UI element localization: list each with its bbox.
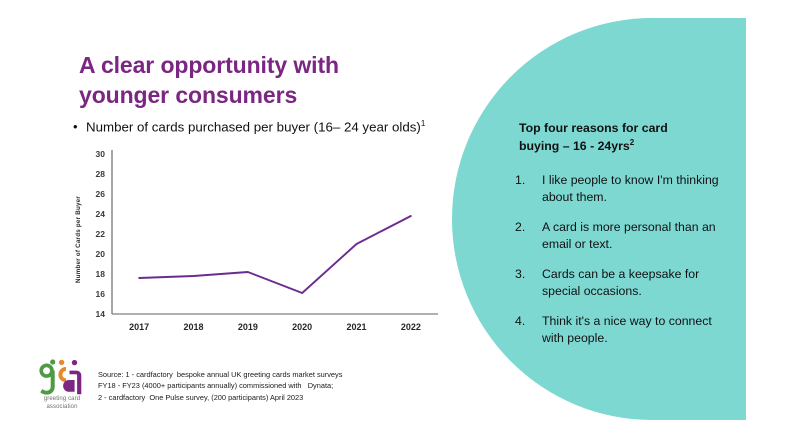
gca-logo-mark [33,358,91,396]
chart-x-tick-label: 2017 [129,322,149,332]
reason-text: Think it's a nice way to connect with pe… [542,313,737,347]
chart-y-tick-label: 16 [96,289,106,299]
source-footnote-line-1: Source: 1 - cardfactory bespoke annual U… [98,369,428,380]
source-footnote: Source: 1 - cardfactory bespoke annual U… [98,369,428,403]
chart-x-tick-label: 2020 [292,322,312,332]
reason-item: 4.Think it's a nice way to connect with … [515,313,737,347]
chart-caption: • Number of cards purchased per buyer (1… [73,119,473,136]
chart-y-tick-label: 28 [96,169,106,179]
source-footnote-line-2: FY18 - FY23 (4000+ participants annually… [98,380,428,391]
reason-text: Cards can be a keepsake for special occa… [542,266,737,300]
chart-y-tick-label: 14 [96,309,106,319]
chart-x-tick-label: 2019 [238,322,258,332]
reason-number: 2. [515,219,542,236]
chart-series-line [139,216,411,293]
gca-wordmark-line-2: association [33,404,91,412]
chart-caption-label: Number of cards purchased per buyer (16–… [86,119,421,134]
chart-y-tick-label: 22 [96,229,106,239]
bullet-icon: • [73,119,86,135]
chart-y-tick-label: 20 [96,249,106,259]
page-title-line-2: younger consumers [79,80,419,110]
gca-logo: greeting card association [33,358,91,416]
chart-caption-footnote-marker: 1 [421,119,425,128]
source-footnote-line-3: 2 - cardfactory One Pulse survey, (200 p… [98,392,428,403]
gca-logo-wordmark: greeting card association [33,396,91,411]
panel-heading-line-1: Top four reasons for card [519,121,668,135]
chart-x-tick-label: 2022 [401,322,421,332]
chart-x-tick-label: 2021 [346,322,366,332]
chart-y-tick-label: 30 [96,149,106,159]
reason-number: 1. [515,172,542,189]
chart-y-tick-label: 26 [96,189,106,199]
chart-x-tick-label: 2018 [183,322,203,332]
reason-number: 3. [515,266,542,283]
reason-item: 2.A card is more personal than an email … [515,219,737,253]
reason-item: 1.I like people to know I'm thinking abo… [515,172,737,206]
slide-canvas: A clear opportunity with younger consume… [0,0,800,439]
reasons-list: 1.I like people to know I'm thinking abo… [515,172,737,360]
chart-y-tick-label: 24 [96,209,106,219]
panel-heading-footnote-marker: 2 [630,138,634,147]
gca-wordmark-line-1: greeting card [33,396,91,404]
reason-text: A card is more personal than an email or… [542,219,737,253]
reason-number: 4. [515,313,542,330]
panel-heading-line-2: buying – 16 - 24yrs [519,140,630,154]
reason-item: 3.Cards can be a keepsake for special oc… [515,266,737,300]
panel-heading: Top four reasons for card buying – 16 - … [519,120,729,156]
page-title: A clear opportunity with younger consume… [79,50,419,111]
chart-caption-text: Number of cards purchased per buyer (16–… [86,119,473,136]
page-title-line-1: A clear opportunity with [79,50,419,80]
reason-text: I like people to know I'm thinking about… [542,172,737,206]
chart-y-tick-label: 18 [96,269,106,279]
line-chart: Number of Cards per Buyer 14161820222426… [72,146,444,346]
chart-plot-area: 1416182022242628302017201820192020202120… [72,146,444,346]
